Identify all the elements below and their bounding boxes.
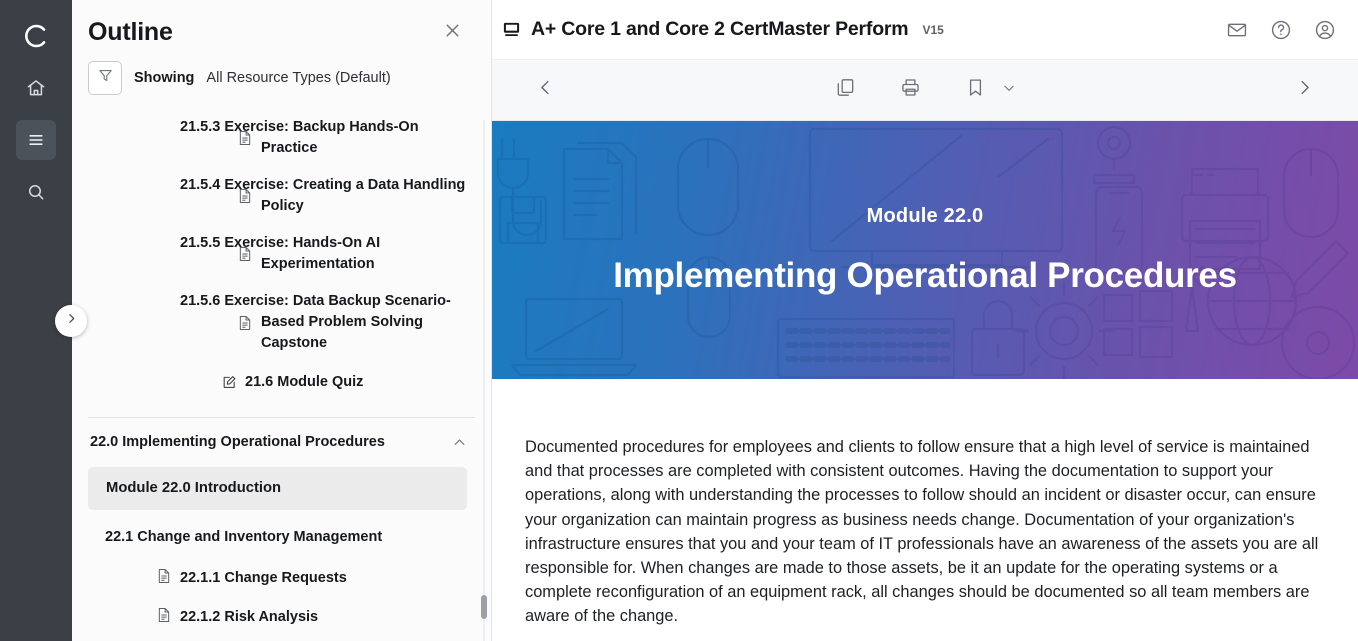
list-item-label: 21.5.6 Exercise: Data Backup Scenario-Ba… xyxy=(261,291,467,354)
list-item-label: 21.5.4 Exercise: Creating a Data Handlin… xyxy=(261,175,467,217)
mail-icon[interactable] xyxy=(1226,19,1248,41)
document-icon xyxy=(238,315,252,331)
outline-panel: Outline Showing All Resource Types (Defa… xyxy=(72,0,492,641)
course-version: V15 xyxy=(922,23,943,37)
subsection-header-22-1[interactable]: 22.1 Change and Inventory Management xyxy=(72,516,491,559)
list-item-label: 21.6 Module Quiz xyxy=(245,372,363,393)
section-header-label: 22.0 Implementing Operational Procedures xyxy=(90,432,385,453)
banner-tech-artwork xyxy=(492,121,1358,379)
list-item[interactable]: 21.6 Module Quiz xyxy=(72,362,491,403)
outline-list[interactable]: 21.5.3 Exercise: Backup Hands-On Practic… xyxy=(72,109,491,641)
filter-button[interactable] xyxy=(88,61,122,95)
next-page-button[interactable] xyxy=(1295,78,1314,102)
body-paragraph: Documented procedures for employees and … xyxy=(525,435,1325,629)
divider xyxy=(88,417,475,418)
scrollbar-thumb[interactable] xyxy=(481,595,487,619)
list-item-active[interactable]: Module 22.0 Introduction xyxy=(88,467,467,510)
outline-scrollbar[interactable] xyxy=(481,120,487,641)
chevron-left-icon xyxy=(536,78,555,102)
sidebar-item-search[interactable] xyxy=(16,172,56,212)
sidebar-item-outline[interactable] xyxy=(16,120,56,160)
copy-icon xyxy=(835,77,856,103)
subsection-header-label: 22.1 Change and Inventory Management xyxy=(105,529,382,545)
bookmark-dropdown-button[interactable] xyxy=(1002,81,1016,100)
comptia-c-logo-icon[interactable] xyxy=(16,16,56,56)
expand-panel-button[interactable] xyxy=(55,305,87,337)
search-icon xyxy=(26,182,46,202)
quiz-pencil-icon xyxy=(222,375,236,390)
course-header-left: A+ Core 1 and Core 2 CertMaster Perform … xyxy=(502,18,944,41)
document-icon xyxy=(157,607,171,628)
module-banner: Module 22.0 Implementing Operational Pro… xyxy=(492,121,1358,379)
previous-page-button[interactable] xyxy=(536,78,555,102)
menu-outline-icon xyxy=(26,130,46,150)
home-icon xyxy=(26,78,46,98)
filter-showing-label: Showing xyxy=(134,70,194,86)
close-outline-button[interactable] xyxy=(442,20,463,46)
main-panel: A+ Core 1 and Core 2 CertMaster Perform … xyxy=(492,0,1358,641)
outline-title: Outline xyxy=(88,18,173,47)
list-item[interactable]: 21.5.4 Exercise: Creating a Data Handlin… xyxy=(72,167,491,225)
filter-value[interactable]: All Resource Types (Default) xyxy=(206,70,390,86)
print-icon xyxy=(900,77,921,103)
toolbar-center-actions xyxy=(492,77,1358,103)
bookmark-icon xyxy=(965,77,986,103)
page-title: A+ Core 1 and Core 2 CertMaster Perform xyxy=(531,18,908,41)
scrollbar-track xyxy=(483,120,485,641)
print-button[interactable] xyxy=(900,77,921,103)
list-item-label: Module 22.0 Introduction xyxy=(106,480,281,496)
list-item-label: 22.1.2 Risk Analysis xyxy=(180,607,318,628)
list-item-label: 21.5.5 Exercise: Hands-On AI Experimenta… xyxy=(261,233,467,275)
banner-title: Implementing Operational Procedures xyxy=(613,256,1237,296)
monitor-icon xyxy=(502,20,521,39)
bookmark-button[interactable] xyxy=(965,77,986,103)
chevron-down-icon xyxy=(1002,81,1016,100)
banner-module-label: Module 22.0 xyxy=(867,205,984,228)
sidebar-item-home[interactable] xyxy=(16,68,56,108)
chevron-right-icon xyxy=(65,312,78,330)
list-item[interactable]: 22.1.2 Risk Analysis xyxy=(72,598,491,637)
filter-funnel-icon xyxy=(97,67,114,89)
list-item[interactable]: 21.5.5 Exercise: Hands-On AI Experimenta… xyxy=(72,225,491,283)
course-header-actions xyxy=(1226,19,1336,41)
outline-header: Outline xyxy=(72,0,491,55)
help-circle-icon[interactable] xyxy=(1270,19,1292,41)
content-toolbar xyxy=(492,59,1358,121)
chevron-up-icon[interactable] xyxy=(452,435,467,450)
app-root: Outline Showing All Resource Types (Defa… xyxy=(0,0,1358,641)
list-item-label: 22.1.1 Change Requests xyxy=(180,568,347,589)
list-item[interactable]: 21.5.6 Exercise: Data Backup Scenario-Ba… xyxy=(72,283,491,362)
copy-button[interactable] xyxy=(835,77,856,103)
list-item[interactable]: 22.1.1 Change Requests xyxy=(72,559,491,598)
content-area: Documented procedures for employees and … xyxy=(492,379,1358,641)
document-icon xyxy=(157,568,171,589)
resource-filter-row: Showing All Resource Types (Default) xyxy=(72,55,491,109)
account-circle-icon[interactable] xyxy=(1314,19,1336,41)
course-header: A+ Core 1 and Core 2 CertMaster Perform … xyxy=(492,0,1358,59)
section-header-22[interactable]: 22.0 Implementing Operational Procedures xyxy=(72,424,491,461)
close-icon xyxy=(442,20,463,46)
list-item[interactable]: 21.5.3 Exercise: Backup Hands-On Practic… xyxy=(72,109,491,167)
chevron-right-icon xyxy=(1295,78,1314,102)
left-rail xyxy=(0,0,72,641)
list-item-label: 21.5.3 Exercise: Backup Hands-On Practic… xyxy=(261,117,467,159)
